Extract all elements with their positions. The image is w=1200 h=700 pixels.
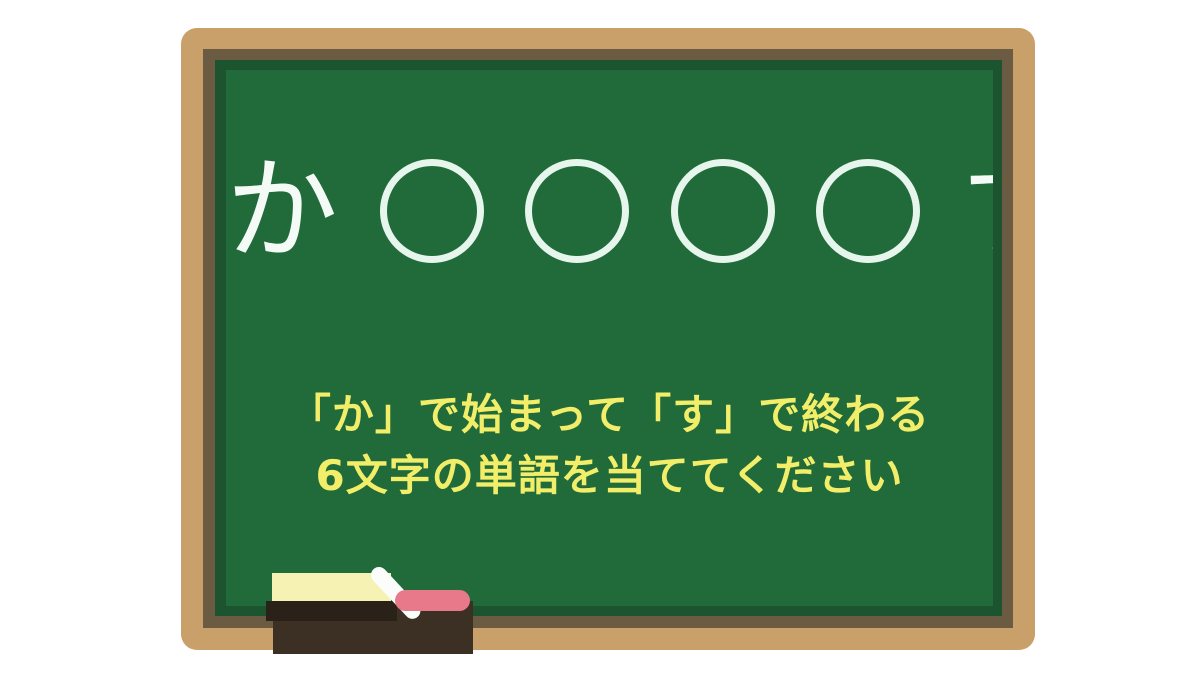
- puzzle-blank-3: ○: [671, 159, 775, 263]
- puzzle-char-first: か: [226, 155, 340, 267]
- blackboard-inner-bevel: か ○ ○ ○ ○ す 「か」で始まって「す」で終わる 6文字の単語を当ててくだ…: [203, 49, 1013, 628]
- puzzle-word-line: か ○ ○ ○ ○ す: [226, 148, 993, 267]
- puzzle-blank-1: ○: [380, 159, 484, 263]
- puzzle-blank-2: ○: [525, 159, 629, 263]
- puzzle-blank-4: ○: [816, 159, 920, 263]
- instruction-line-2: 6文字の単語を当ててください: [226, 446, 993, 507]
- blackboard-scene: か ○ ○ ○ ○ す 「か」で始まって「す」で終わる 6文字の単語を当ててくだ…: [0, 0, 1200, 700]
- instruction-line-1: 「か」で始まって「す」で終わる: [226, 385, 993, 446]
- blackboard-wooden-frame: か ○ ○ ○ ○ す 「か」で始まって「す」で終わる 6文字の単語を当ててくだ…: [181, 28, 1035, 650]
- chalk-stick-pink: [395, 590, 470, 611]
- instruction-text-block: 「か」で始まって「す」で終わる 6文字の単語を当ててください: [226, 385, 993, 507]
- puzzle-char-last: す: [960, 155, 993, 267]
- eraser-body: [266, 601, 397, 621]
- blackboard-writing-surface: か ○ ○ ○ ○ す 「か」で始まって「す」で終わる 6文字の単語を当ててくだ…: [226, 70, 993, 606]
- blackboard-surface-shadow: か ○ ○ ○ ○ す 「か」で始まって「す」で終わる 6文字の単語を当ててくだ…: [215, 60, 1002, 616]
